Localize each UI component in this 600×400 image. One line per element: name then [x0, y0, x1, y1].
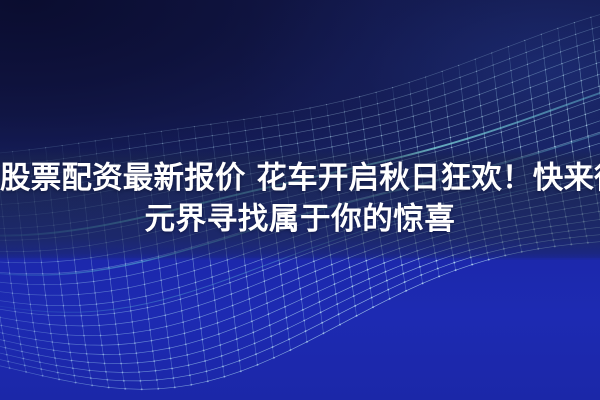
headline-line-2: 元界寻找属于你的惊喜: [0, 199, 600, 240]
banner-headline: 股票配资最新报价 花车开启秋日狂欢！快来徐汇 元界寻找属于你的惊喜: [0, 158, 600, 240]
headline-line-1: 股票配资最新报价 花车开启秋日狂欢！快来徐汇: [0, 158, 600, 199]
banner-image: 股票配资最新报价 花车开启秋日狂欢！快来徐汇 元界寻找属于你的惊喜: [0, 0, 600, 400]
